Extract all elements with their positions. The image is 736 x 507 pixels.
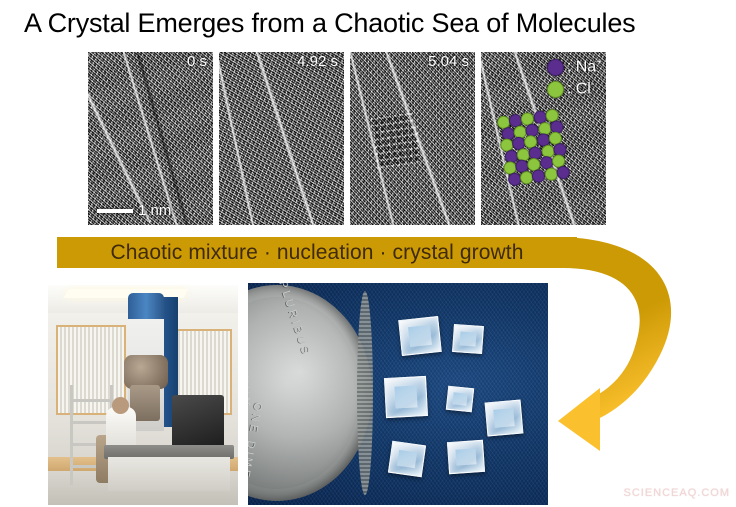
photo-microscope-lab (48, 285, 238, 505)
lab-desk-body (108, 457, 230, 491)
lattice-sodium-ion (531, 169, 546, 184)
ion-legend: : Na+ : Cl- (547, 56, 602, 100)
chloride-ion-icon (547, 81, 564, 98)
scale-bar-label: 1 nm (138, 202, 171, 219)
lattice-sodium-ion (556, 165, 571, 180)
sodium-label: : Na+ (567, 57, 602, 76)
nacl-lattice-overlay (496, 108, 569, 188)
salt-crystal (384, 376, 428, 418)
nucleated-crystal-region (371, 111, 422, 169)
microscope-gun-housing (128, 293, 164, 319)
tem-timestamp: 5.04 s (428, 53, 469, 70)
salt-crystal (447, 440, 485, 474)
tem-panel-overlay: : Na+ : Cl- (481, 52, 606, 225)
tem-panel-0s: 0 s 1 nm (88, 52, 213, 225)
figure-title: A Crystal Emerges from a Chaotic Sea of … (24, 8, 714, 39)
tem-time-series: 0 s 1 nm 4.92 s 5.04 s (88, 52, 636, 225)
scale-bar-group: 1 nm (97, 202, 171, 219)
computer-monitor (172, 395, 224, 449)
sodium-ion-icon (547, 59, 564, 76)
salt-crystal (485, 399, 524, 436)
tem-noise-texture (219, 52, 344, 225)
coin-face (248, 297, 360, 489)
coin-reeded-edge (357, 291, 373, 495)
tem-timestamp: 0 s (187, 53, 207, 70)
chloride-label: : Cl- (567, 79, 594, 98)
tem-panel-504s: 5.04 s (350, 52, 475, 225)
legend-item-chloride: : Cl- (547, 78, 602, 100)
legend-item-sodium: : Na+ (547, 56, 602, 78)
salt-crystal (398, 316, 442, 356)
tem-panel-492s: 4.92 s (219, 52, 344, 225)
tem-noise-texture (88, 52, 213, 225)
photo-salt-crystals: E PLURIBUS UNUM ONE DIME (248, 283, 548, 505)
banner-label: Chaotic mixture · nucleation · crystal g… (57, 237, 577, 268)
tem-timestamp: 4.92 s (297, 53, 338, 70)
salt-crystal (446, 386, 474, 413)
scale-bar-line (97, 209, 133, 213)
salt-crystal (452, 324, 484, 354)
figure-canvas: A Crystal Emerges from a Chaotic Sea of … (0, 0, 736, 507)
salt-crystal (388, 441, 426, 477)
source-watermark: SCIENCEAQ.COM (623, 487, 730, 499)
arrow-head (558, 388, 600, 451)
researcher-head (112, 397, 129, 414)
microscope-lens-assembly (124, 355, 168, 389)
